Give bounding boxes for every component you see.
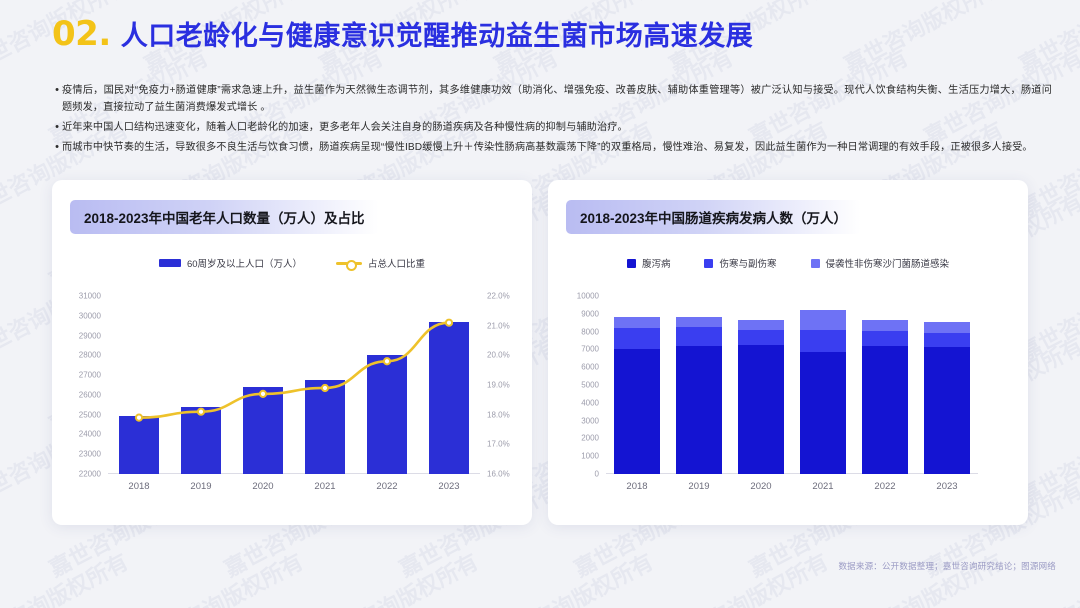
y-axis-tick-label: 7000 xyxy=(581,345,606,354)
y-axis-tick-label: 23000 xyxy=(79,450,108,459)
y-axis-tick-label: 5000 xyxy=(581,381,606,390)
y-axis-tick-label: 16.0% xyxy=(480,470,510,479)
bar-segment[interactable] xyxy=(862,320,908,331)
source-note: 数据来源：公开数据整理；嘉世咨询研究结论；图源网络 xyxy=(838,560,1056,572)
x-axis-labels: 201820192020202120222023 xyxy=(606,474,978,492)
line-data-point[interactable] xyxy=(198,409,204,415)
slide-root: 嘉世咨询版权所有嘉世咨询版权所有嘉世咨询版权所有嘉世咨询版权所有嘉世咨询版权所有… xyxy=(0,0,1080,608)
y-axis-tick-label: 28000 xyxy=(79,351,108,360)
chart-plot-area: 2200023000240002500026000270002800029000… xyxy=(108,296,480,474)
y-axis-tick-label: 27000 xyxy=(79,371,108,380)
legend-label: 腹泻病 xyxy=(642,256,671,270)
bar-slot xyxy=(854,296,916,474)
legend-item-salmonella[interactable]: 侵袭性非伤寒沙门菌肠道感染 xyxy=(811,256,950,270)
x-axis-tick-label: 2021 xyxy=(792,474,854,492)
y-axis-tick-label: 22000 xyxy=(79,470,108,479)
line-data-point[interactable] xyxy=(136,415,142,421)
y-axis-tick-label: 22.0% xyxy=(480,292,510,301)
y-axis-tick-label: 24000 xyxy=(79,430,108,439)
bar-segment[interactable] xyxy=(738,330,784,345)
list-item: • 疫情后，国民对“免疫力+肠道健康”需求急速上升，益生菌作为天然微生态调节剂，… xyxy=(52,82,1052,116)
y-axis-tick-label: 19.0% xyxy=(480,381,510,390)
bar-slot xyxy=(730,296,792,474)
legend-label: 伤寒与副伤寒 xyxy=(719,256,776,270)
bar-slot xyxy=(606,296,668,474)
bullet-dot-icon: • xyxy=(52,119,62,136)
x-axis-tick-label: 2019 xyxy=(668,474,730,492)
y-axis-tick-label: 4000 xyxy=(581,398,606,407)
bar-segment[interactable] xyxy=(924,347,970,474)
legend-label: 占总人口比重 xyxy=(368,256,425,270)
bar-segment[interactable] xyxy=(862,346,908,474)
section-number: 02. xyxy=(52,14,111,54)
bar-segment[interactable] xyxy=(924,322,970,333)
stacked-bar[interactable] xyxy=(862,320,908,474)
bullet-list: • 疫情后，国民对“免疫力+肠道健康”需求急速上升，益生菌作为天然微生态调节剂，… xyxy=(52,82,1052,159)
stacked-bar[interactable] xyxy=(800,310,846,474)
y-axis-tick-label: 31000 xyxy=(79,292,108,301)
line-data-point[interactable] xyxy=(260,391,266,397)
y-axis-tick-label: 3000 xyxy=(581,416,606,425)
legend-swatch-icon xyxy=(627,259,636,268)
bar-segment[interactable] xyxy=(676,346,722,474)
y-axis-tick-label: 0 xyxy=(595,470,606,479)
bar-slot xyxy=(916,296,978,474)
y-axis-tick-label: 8000 xyxy=(581,327,606,336)
bullet-dot-icon: • xyxy=(52,82,62,116)
page-title: 人口老龄化与健康意识觉醒推动益生菌市场高速发展 xyxy=(121,14,754,53)
stacked-bar[interactable] xyxy=(924,322,970,474)
y-axis-tick-label: 30000 xyxy=(79,311,108,320)
legend-swatch-bar-icon xyxy=(159,259,181,267)
x-axis-tick-label: 2023 xyxy=(916,474,978,492)
x-axis-tick-label: 2021 xyxy=(294,474,356,492)
bar-slot xyxy=(668,296,730,474)
chart-card-intestinal-disease: 2018-2023年中国肠道疾病发病人数（万人） 腹泻病 伤寒与副伤寒 侵袭性非… xyxy=(548,180,1028,525)
bar-segment[interactable] xyxy=(614,317,660,328)
bullet-text: 而城市中快节奏的生活，导致很多不良生活与饮食习惯，肠道疾病呈现“慢性IBD缓慢上… xyxy=(62,139,1033,156)
chart-title: 2018-2023年中国肠道疾病发病人数（万人） xyxy=(580,207,847,227)
y-axis-tick-label: 29000 xyxy=(79,331,108,340)
y-axis-tick-label: 10000 xyxy=(577,292,606,301)
stacked-bar-series xyxy=(606,296,978,474)
bar-segment[interactable] xyxy=(614,328,660,348)
bar-segment[interactable] xyxy=(676,327,722,346)
chart-legend: 60周岁及以上人口（万人） 占总人口比重 xyxy=(52,256,532,270)
page-header: 02. 人口老龄化与健康意识觉醒推动益生菌市场高速发展 xyxy=(52,14,753,54)
stacked-bar[interactable] xyxy=(738,320,784,474)
x-axis-tick-label: 2019 xyxy=(170,474,232,492)
legend-swatch-icon xyxy=(704,259,713,268)
chart-card-elderly-population: 2018-2023年中国老年人口数量（万人）及占比 60周岁及以上人口（万人） … xyxy=(52,180,532,525)
bar-segment[interactable] xyxy=(676,317,722,328)
stacked-bar[interactable] xyxy=(676,317,722,474)
x-axis-tick-label: 2018 xyxy=(606,474,668,492)
legend-label: 侵袭性非伤寒沙门菌肠道感染 xyxy=(826,256,950,270)
y-axis-tick-label: 20.0% xyxy=(480,351,510,360)
trend-line xyxy=(139,323,449,418)
bar-segment[interactable] xyxy=(614,349,660,474)
line-data-point[interactable] xyxy=(446,320,452,326)
legend-item-line[interactable]: 占总人口比重 xyxy=(336,256,425,270)
x-axis-tick-label: 2022 xyxy=(854,474,916,492)
legend-item-typhoid[interactable]: 伤寒与副伤寒 xyxy=(704,256,776,270)
legend-swatch-line-icon xyxy=(336,262,362,265)
list-item: • 而城市中快节奏的生活，导致很多不良生活与饮食习惯，肠道疾病呈现“慢性IBD缓… xyxy=(52,139,1052,156)
bar-segment[interactable] xyxy=(924,333,970,347)
bar-segment[interactable] xyxy=(800,330,846,352)
chart-title-banner: 2018-2023年中国老年人口数量（万人）及占比 xyxy=(70,200,379,234)
stacked-bar[interactable] xyxy=(614,317,660,474)
y-axis-tick-label: 2000 xyxy=(581,434,606,443)
legend-item-bar[interactable]: 60周岁及以上人口（万人） xyxy=(159,256,302,270)
line-series xyxy=(108,296,480,474)
y-axis-tick-label: 17.0% xyxy=(480,440,510,449)
y-axis-tick-label: 6000 xyxy=(581,363,606,372)
y-axis-tick-label: 21.0% xyxy=(480,321,510,330)
list-item: • 近年来中国人口结构迅速变化，随着人口老龄化的加速，更多老年人会关注自身的肠道… xyxy=(52,119,1052,136)
chart-title: 2018-2023年中国老年人口数量（万人）及占比 xyxy=(84,207,365,227)
x-axis-tick-label: 2020 xyxy=(730,474,792,492)
x-axis-tick-label: 2018 xyxy=(108,474,170,492)
bar-segment[interactable] xyxy=(862,331,908,347)
x-axis-labels: 201820192020202120222023 xyxy=(108,474,480,492)
bullet-dot-icon: • xyxy=(52,139,62,156)
chart-title-banner: 2018-2023年中国肠道疾病发病人数（万人） xyxy=(566,200,861,234)
x-axis-tick-label: 2023 xyxy=(418,474,480,492)
line-data-point[interactable] xyxy=(384,358,390,364)
y-axis-tick-label: 26000 xyxy=(79,390,108,399)
bullet-text: 近年来中国人口结构迅速变化，随着人口老龄化的加速，更多老年人会关注自身的肠道疾病… xyxy=(62,119,628,136)
chart-plot-area: 0100020003000400050006000700080009000100… xyxy=(606,296,978,474)
bullet-text: 疫情后，国民对“免疫力+肠道健康”需求急速上升，益生菌作为天然微生态调节剂，其多… xyxy=(62,82,1052,116)
chart-legend: 腹泻病 伤寒与副伤寒 侵袭性非伤寒沙门菌肠道感染 xyxy=(548,256,1028,270)
line-data-point[interactable] xyxy=(322,385,328,391)
bar-segment[interactable] xyxy=(738,320,784,330)
y-axis-tick-label: 1000 xyxy=(581,452,606,461)
legend-label: 60周岁及以上人口（万人） xyxy=(187,256,302,270)
legend-swatch-icon xyxy=(811,259,820,268)
bar-segment[interactable] xyxy=(738,345,784,474)
y-axis-tick-label: 18.0% xyxy=(480,410,510,419)
bar-slot xyxy=(792,296,854,474)
y-axis-tick-label: 9000 xyxy=(581,309,606,318)
x-axis-tick-label: 2020 xyxy=(232,474,294,492)
bar-segment[interactable] xyxy=(800,352,846,474)
x-axis-tick-label: 2022 xyxy=(356,474,418,492)
bar-segment[interactable] xyxy=(800,310,846,329)
y-axis-tick-label: 25000 xyxy=(79,410,108,419)
legend-item-diarrhea[interactable]: 腹泻病 xyxy=(627,256,671,270)
